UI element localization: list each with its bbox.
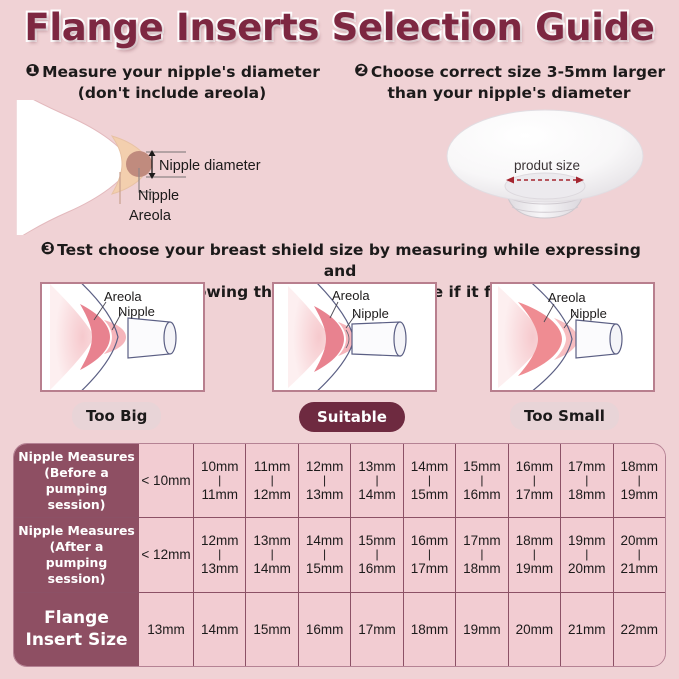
table-cell-first: < 10mm bbox=[139, 444, 194, 517]
cell-range-separator: | bbox=[218, 548, 221, 561]
diameter-arrow-head-top bbox=[149, 150, 156, 156]
cell-range-separator: | bbox=[323, 474, 326, 487]
cell-range-separator: | bbox=[323, 548, 326, 561]
table-cell: 11mm|12mm bbox=[246, 444, 298, 517]
cell-range-from: 15mm bbox=[358, 533, 396, 548]
caption-too-small: Too Small bbox=[510, 402, 619, 430]
page-title: Flange Inserts Selection Guide bbox=[24, 6, 654, 49]
table-cell: 12mm|13mm bbox=[194, 518, 246, 591]
cell-range-to: 21mm bbox=[620, 561, 658, 576]
panel-suitable-areola-label: Areola bbox=[332, 288, 370, 303]
flange-tunnel bbox=[352, 322, 400, 356]
label-nipple: Nipple bbox=[138, 188, 179, 204]
step-1-text-line1: Measure your nipple's diameter bbox=[42, 63, 320, 81]
table-cell: 15mm|16mm bbox=[351, 518, 403, 591]
step-2-number: ❷ bbox=[353, 63, 370, 78]
table-cell: 20mm|21mm bbox=[614, 518, 665, 591]
table-row-header-line: Nipple Measures bbox=[18, 449, 135, 465]
step-3-number: ❸ bbox=[39, 241, 56, 256]
cell-range-separator: | bbox=[428, 474, 431, 487]
cell-range-from: 10mm bbox=[201, 459, 239, 474]
cell-range-to: 15mm bbox=[411, 487, 449, 502]
table-cell: 16mm|17mm bbox=[509, 444, 561, 517]
table-row-header-line: Nipple Measures bbox=[18, 523, 135, 539]
table-cell: 20mm bbox=[509, 593, 561, 666]
table-row-header-line: Insert Size bbox=[26, 629, 128, 651]
cell-range-to: 12mm bbox=[253, 487, 291, 502]
cell-range-to: 13mm bbox=[201, 561, 239, 576]
flange-size-table: Nipple Measures(Before a pumpingsession)… bbox=[13, 443, 666, 667]
table-cell: 14mm bbox=[194, 593, 246, 666]
cell-range-from: 20mm bbox=[620, 533, 658, 548]
table-cell: 12mm|13mm bbox=[299, 444, 351, 517]
cell-range-separator: | bbox=[428, 548, 431, 561]
cell-range-from: 16mm bbox=[516, 459, 554, 474]
table-cell: 21mm bbox=[561, 593, 613, 666]
table-cell: 17mm|18mm bbox=[456, 518, 508, 591]
cell-range-separator: | bbox=[375, 474, 378, 487]
table-row: FlangeInsert Size13mm14mm15mm16mm17mm18m… bbox=[14, 592, 665, 666]
cell-range-from: 16mm bbox=[411, 533, 449, 548]
table-row-header-line: Flange bbox=[26, 607, 128, 629]
breast-halo bbox=[288, 286, 330, 388]
panel-too-small: Areola Nipple bbox=[490, 282, 655, 392]
cell-range-to: 19mm bbox=[620, 487, 658, 502]
cell-range-to: 16mm bbox=[358, 561, 396, 576]
breast-profile-illustration: Nipple diameter Nipple Areola bbox=[16, 100, 346, 235]
table-cell: 15mm|16mm bbox=[456, 444, 508, 517]
table-cell: 16mm|17mm bbox=[404, 518, 456, 591]
table-cell: 14mm|15mm bbox=[404, 444, 456, 517]
table-cell: 16mm bbox=[299, 593, 351, 666]
table-cell: 17mm|18mm bbox=[561, 444, 613, 517]
cell-range-from: 11mm bbox=[254, 459, 291, 474]
table-row: Nipple Measures(Before a pumpingsession)… bbox=[14, 444, 665, 517]
label-nipple-diameter: Nipple diameter bbox=[159, 158, 261, 174]
panel-suitable-nipple-label: Nipple bbox=[352, 306, 389, 321]
table-cell-first: 13mm bbox=[139, 593, 194, 666]
cell-range-from: 19mm bbox=[568, 533, 606, 548]
panel-too-big-nipple-label: Nipple bbox=[118, 304, 155, 319]
cell-range-to: 17mm bbox=[516, 487, 554, 502]
cell-range-separator: | bbox=[480, 474, 483, 487]
cell-range-from: 13mm bbox=[253, 533, 291, 548]
table-cell: 13mm|14mm bbox=[246, 518, 298, 591]
step-1-number: ❶ bbox=[24, 63, 41, 78]
cell-range-to: 15mm bbox=[306, 561, 344, 576]
cell-range-separator: | bbox=[375, 548, 378, 561]
table-cell: 19mm bbox=[456, 593, 508, 666]
label-areola: Areola bbox=[129, 208, 171, 224]
cell-range-from: 12mm bbox=[201, 533, 239, 548]
cell-range-from: 14mm bbox=[306, 533, 344, 548]
cell-range-separator: | bbox=[533, 474, 536, 487]
panel-too-small-areola-label: Areola bbox=[548, 290, 586, 305]
step-1-heading: ❶Measure your nipple's diameter (don't i… bbox=[12, 62, 332, 104]
flange-tunnel-mouth bbox=[394, 322, 406, 356]
cell-range-from: 18mm bbox=[516, 533, 554, 548]
cell-range-from: 13mm bbox=[358, 459, 396, 474]
cell-range-to: 13mm bbox=[306, 487, 344, 502]
cell-range-to: 14mm bbox=[358, 487, 396, 502]
cell-range-separator: | bbox=[271, 548, 274, 561]
page-title-container: Flange Inserts Selection Guide bbox=[0, 6, 679, 49]
product-inner-opening bbox=[505, 173, 585, 199]
table-row-header-line: (After a pumping bbox=[18, 539, 135, 571]
table-cell: 10mm|11mm bbox=[194, 444, 246, 517]
table-cell: 19mm|20mm bbox=[561, 518, 613, 591]
table-row-header-line: session) bbox=[18, 497, 135, 513]
table-cell: 22mm bbox=[614, 593, 665, 666]
cell-range-from: 15mm bbox=[463, 459, 501, 474]
cell-range-from: 14mm bbox=[411, 459, 449, 474]
step-2-text-line1: Choose correct size 3-5mm larger bbox=[371, 63, 665, 81]
flange-insert-product-illustration: produt size bbox=[430, 100, 660, 230]
cell-range-separator: | bbox=[585, 474, 588, 487]
cell-range-from: 12mm bbox=[306, 459, 344, 474]
table-cell: 17mm bbox=[351, 593, 403, 666]
cell-range-to: 11mm bbox=[201, 487, 238, 502]
panel-suitable: Areola Nipple bbox=[272, 282, 437, 392]
breast-shape bbox=[16, 100, 132, 235]
panel-too-big: Areola Nipple bbox=[40, 282, 205, 392]
infographic-page: Flange Inserts Selection Guide ❶Measure … bbox=[0, 0, 679, 679]
cell-range-to: 14mm bbox=[253, 561, 291, 576]
cell-range-to: 16mm bbox=[463, 487, 501, 502]
table-cell: 18mm|19mm bbox=[614, 444, 665, 517]
areola-leader-line bbox=[94, 302, 106, 320]
table-cell: 15mm bbox=[246, 593, 298, 666]
cell-range-to: 19mm bbox=[516, 561, 554, 576]
flange-tunnel-mouth bbox=[164, 322, 176, 354]
table-row-header-line: (Before a pumping bbox=[18, 465, 135, 497]
cell-range-separator: | bbox=[218, 474, 221, 487]
areola-leader-line bbox=[330, 302, 338, 318]
table-cell: 18mm|19mm bbox=[509, 518, 561, 591]
cell-range-from: 17mm bbox=[568, 459, 606, 474]
cell-range-separator: | bbox=[271, 474, 274, 487]
cell-range-from: 18mm bbox=[620, 459, 658, 474]
table-row-header-line: session) bbox=[18, 571, 135, 587]
step-3-text-line1: Test choose your breast shield size by m… bbox=[57, 241, 641, 280]
label-product-size: produt size bbox=[492, 158, 602, 173]
cell-range-to: 18mm bbox=[463, 561, 501, 576]
flange-tunnel-mouth bbox=[610, 324, 622, 354]
table-row-header: Nipple Measures(Before a pumpingsession) bbox=[14, 444, 139, 517]
caption-suitable: Suitable bbox=[299, 402, 405, 432]
table-cell: 13mm|14mm bbox=[351, 444, 403, 517]
step-2-heading: ❷Choose correct size 3-5mm larger than y… bbox=[346, 62, 672, 104]
cell-range-to: 20mm bbox=[568, 561, 606, 576]
cell-range-separator: | bbox=[585, 548, 588, 561]
table-cell: 18mm bbox=[404, 593, 456, 666]
panel-too-small-nipple-label: Nipple bbox=[570, 306, 607, 321]
table-row-header: FlangeInsert Size bbox=[14, 593, 139, 666]
breast-halo bbox=[50, 284, 94, 390]
cell-range-from: 17mm bbox=[463, 533, 501, 548]
diameter-arrow-head-bottom bbox=[149, 173, 156, 179]
table-row: Nipple Measures(After a pumpingsession)<… bbox=[14, 517, 665, 591]
table-cell-first: < 12mm bbox=[139, 518, 194, 591]
caption-too-big: Too Big bbox=[72, 402, 161, 430]
panel-too-big-areola-label: Areola bbox=[104, 289, 142, 304]
cell-range-to: 17mm bbox=[411, 561, 449, 576]
table-cell: 14mm|15mm bbox=[299, 518, 351, 591]
cell-range-separator: | bbox=[638, 474, 641, 487]
table-row-header: Nipple Measures(After a pumpingsession) bbox=[14, 518, 139, 591]
cell-range-to: 18mm bbox=[568, 487, 606, 502]
cell-range-separator: | bbox=[638, 548, 641, 561]
cell-range-separator: | bbox=[533, 548, 536, 561]
cell-range-separator: | bbox=[480, 548, 483, 561]
